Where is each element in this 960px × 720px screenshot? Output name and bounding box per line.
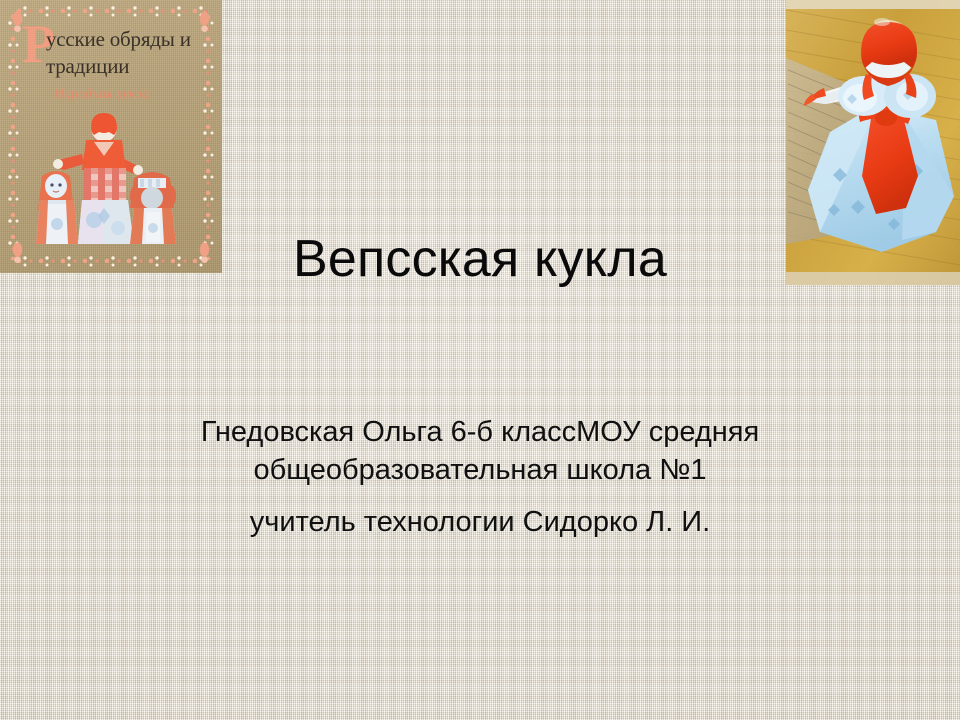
vine-border-left-icon: [7, 13, 20, 260]
author-line: Гнедовская Ольга 6-б классМОУ средняя об…: [150, 413, 810, 489]
book-cover-title: усские обряды и традиции: [46, 26, 210, 80]
slide-canvas: Р усские обряды и традиции Народная кукл…: [0, 0, 960, 720]
teacher-line: учитель технологии Сидорко Л. И.: [150, 503, 810, 541]
book-cover-subtitle: Народная кукла: [54, 86, 204, 103]
slide-title: Вепсская кукла: [0, 228, 960, 290]
slide-subtitle-block: Гнедовская Ольга 6-б классМОУ средняя об…: [150, 413, 810, 541]
